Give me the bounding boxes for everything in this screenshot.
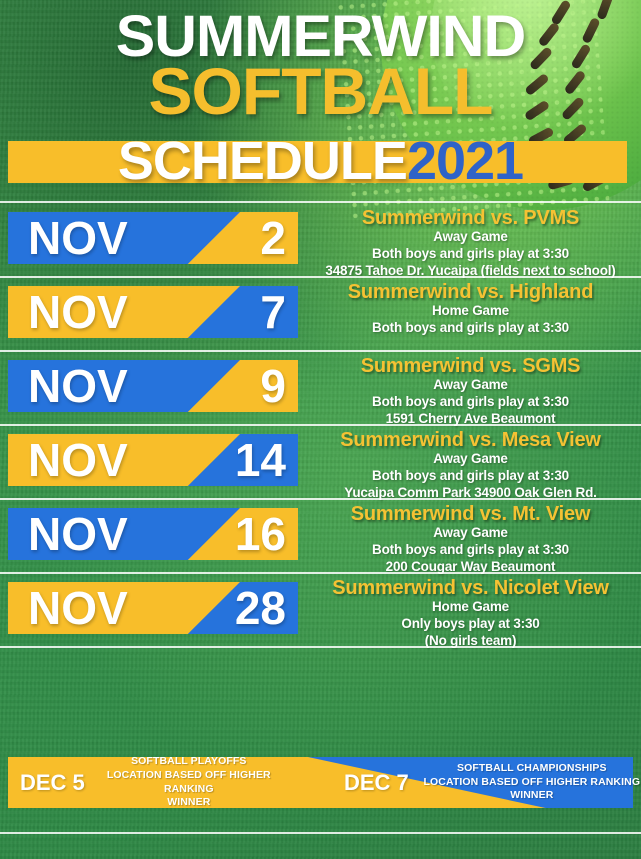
row-separator (0, 276, 641, 278)
game-detail-line: Away Game (300, 451, 641, 468)
game-detail-line: Away Game (300, 229, 641, 246)
game-info: Summerwind vs. Mt. ViewAway GameBoth boy… (300, 504, 641, 576)
row-separator (0, 350, 641, 352)
month-label: NOV (28, 430, 128, 490)
championships-line2: LOCATION BASED OFF HIGHER RANKING (423, 776, 640, 788)
playoffs-detail: SOFTBALL PLAYOFFS LOCATION BASED OFF HIG… (89, 755, 289, 810)
game-info: Summerwind vs. PVMSAway GameBoth boys an… (300, 208, 641, 280)
playoffs-block: DEC 5 SOFTBALL PLAYOFFS LOCATION BASED O… (20, 757, 289, 808)
day-number: 7 (260, 282, 286, 342)
game-detail-line: Away Game (300, 377, 641, 394)
date-band: NOV9 (8, 360, 298, 412)
schedule-row: NOV7Summerwind vs. HighlandHome GameBoth… (0, 280, 641, 346)
row-separator (0, 424, 641, 426)
bottom-separator (0, 832, 641, 834)
row-separator (0, 646, 641, 648)
date-band: NOV14 (8, 434, 298, 486)
month-label: NOV (28, 504, 128, 564)
game-detail-line: Home Game (300, 303, 641, 320)
day-number: 2 (260, 208, 286, 268)
poster-title-line3: SCHEDULE2021 (0, 134, 641, 188)
schedule-row: NOV16Summerwind vs. Mt. ViewAway GameBot… (0, 502, 641, 568)
poster-title-line2: SOFTBALL (0, 58, 641, 124)
matchup-title: Summerwind vs. SGMS (300, 356, 641, 377)
date-band: NOV16 (8, 508, 298, 560)
row-separator (0, 201, 641, 203)
day-number: 16 (235, 504, 286, 564)
game-detail-line: Both boys and girls play at 3:30 (300, 246, 641, 263)
championships-block: DEC 7 SOFTBALL CHAMPIONSHIPS LOCATION BA… (344, 757, 641, 808)
championships-detail: SOFTBALL CHAMPIONSHIPS LOCATION BASED OF… (412, 762, 641, 803)
playoffs-line3: WINNER (167, 796, 210, 808)
game-detail-line: Away Game (300, 525, 641, 542)
game-detail-line: Both boys and girls play at 3:30 (300, 542, 641, 559)
year-label: 2021 (407, 131, 523, 191)
championships-date: DEC 7 (344, 770, 409, 796)
month-label: NOV (28, 356, 128, 416)
date-band: NOV7 (8, 286, 298, 338)
game-detail-line: Only boys play at 3:30 (300, 616, 641, 633)
schedule-row: NOV2Summerwind vs. PVMSAway GameBoth boy… (0, 206, 641, 272)
row-separator (0, 572, 641, 574)
game-info: Summerwind vs. SGMSAway GameBoth boys an… (300, 356, 641, 428)
game-info: Summerwind vs. Nicolet ViewHome GameOnly… (300, 578, 641, 650)
schedule-row: NOV28Summerwind vs. Nicolet ViewHome Gam… (0, 576, 641, 642)
postseason-bar: DEC 5 SOFTBALL PLAYOFFS LOCATION BASED O… (8, 757, 633, 808)
month-label: NOV (28, 578, 128, 638)
schedule-word: SCHEDULE (118, 131, 407, 191)
date-band: NOV28 (8, 582, 298, 634)
month-label: NOV (28, 208, 128, 268)
game-info: Summerwind vs. HighlandHome GameBoth boy… (300, 282, 641, 337)
game-detail-line: Both boys and girls play at 3:30 (300, 394, 641, 411)
day-number: 14 (235, 430, 286, 490)
row-separator (0, 498, 641, 500)
game-info: Summerwind vs. Mesa ViewAway GameBoth bo… (300, 430, 641, 502)
game-detail-line: Both boys and girls play at 3:30 (300, 468, 641, 485)
matchup-title: Summerwind vs. PVMS (300, 208, 641, 229)
playoffs-title: SOFTBALL PLAYOFFS (131, 755, 246, 767)
championships-title: SOFTBALL CHAMPIONSHIPS (457, 762, 607, 774)
game-detail-line: Both boys and girls play at 3:30 (300, 320, 641, 337)
matchup-title: Summerwind vs. Mt. View (300, 504, 641, 525)
matchup-title: Summerwind vs. Mesa View (300, 430, 641, 451)
matchup-title: Summerwind vs. Nicolet View (300, 578, 641, 599)
schedule-row: NOV14Summerwind vs. Mesa ViewAway GameBo… (0, 428, 641, 494)
matchup-title: Summerwind vs. Highland (300, 282, 641, 303)
playoffs-line2: LOCATION BASED OFF HIGHER RANKING (107, 769, 271, 795)
month-label: NOV (28, 282, 128, 342)
date-band: NOV2 (8, 212, 298, 264)
day-number: 28 (235, 578, 286, 638)
day-number: 9 (260, 356, 286, 416)
game-detail-line: Home Game (300, 599, 641, 616)
playoffs-date: DEC 5 (20, 770, 85, 796)
schedule-row: NOV9Summerwind vs. SGMSAway GameBoth boy… (0, 354, 641, 420)
softball-schedule-poster: SUMMERWIND SOFTBALL SCHEDULE2021 NOV2Sum… (0, 0, 641, 859)
championships-line3: WINNER (510, 789, 553, 801)
